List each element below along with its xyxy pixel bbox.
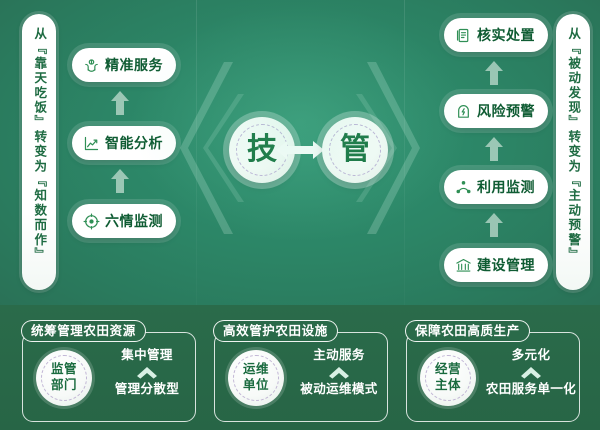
bottom-card-actor-circle: 监管部门	[36, 350, 92, 406]
target-crosshair-icon	[83, 213, 100, 230]
bottom-card-actor-label: 监管部门	[51, 362, 77, 393]
bottom-card-from-state: 管理分散型	[115, 383, 180, 397]
double-headed-arrow-icon	[275, 136, 325, 164]
chevron-up-icon	[136, 365, 158, 381]
chart-trend-icon	[83, 135, 100, 152]
bottom-card-farmland-resources: 统筹管理农田资源 监管部门 集中管理 管理分散型	[22, 332, 196, 422]
pill-label: 六情监测	[105, 214, 163, 228]
clipboard-check-icon	[455, 27, 472, 44]
bottom-card-from-state: 被动运维模式	[300, 383, 377, 397]
pill-label: 风险预警	[477, 104, 535, 118]
right-statement-text: 从『被动发现』转变为『主动预警』	[567, 27, 580, 262]
bank-building-icon	[455, 257, 472, 274]
pill-label: 利用监测	[477, 180, 535, 194]
bottom-card-title: 高效管护农田设施	[213, 320, 338, 342]
bottom-band: 统筹管理农田资源 监管部门 集中管理 管理分散型 高效管护农田设施 运维单位 主…	[0, 305, 600, 430]
up-arrow-right-3-icon	[484, 212, 504, 238]
shield-bolt-icon	[455, 103, 472, 120]
center-char-management: 管	[340, 135, 370, 165]
pill-risk-warning[interactable]: 风险预警	[444, 94, 548, 128]
up-arrow-right-2-icon	[484, 136, 504, 162]
bottom-card-transition: 多元化 农田服务单一化	[485, 349, 577, 397]
pill-precision-service[interactable]: 精准服务	[72, 48, 176, 82]
bottom-card-from-state: 农田服务单一化	[486, 383, 576, 397]
up-arrow-left-1-icon	[110, 90, 130, 116]
pill-utilization-monitoring[interactable]: 利用监测	[444, 170, 548, 204]
bottom-card-title: 保障农田高质生产	[405, 320, 530, 342]
up-arrow-left-2-icon	[110, 168, 130, 194]
bottom-card-title: 统筹管理农田资源	[21, 320, 146, 342]
bottom-card-quality-production: 保障农田高质生产 经营主体 多元化 农田服务单一化	[406, 332, 580, 422]
pill-label: 核实处置	[477, 28, 535, 42]
left-statement-panel: 从『靠天吃饭』转变为『知数而作』	[22, 14, 56, 290]
bottom-card-to-state: 多元化	[512, 349, 551, 363]
pill-six-condition-monitoring[interactable]: 六情监测	[72, 204, 176, 238]
bottom-card-transition: 集中管理 管理分散型	[101, 349, 193, 397]
right-statement-panel: 从『被动发现』转变为『主动预警』	[556, 14, 590, 290]
bottom-card-to-state: 集中管理	[121, 349, 173, 363]
bottom-card-farmland-facilities: 高效管护农田设施 运维单位 主动服务 被动运维模式	[214, 332, 388, 422]
pill-verification-disposal[interactable]: 核实处置	[444, 18, 548, 52]
bottom-card-actor-label: 运维单位	[243, 362, 269, 393]
hands-sprout-icon	[83, 57, 100, 74]
pill-label: 智能分析	[105, 136, 163, 150]
recycle-nodes-icon	[455, 179, 472, 196]
bottom-card-actor-label: 经营主体	[435, 362, 461, 393]
pill-intelligent-analysis[interactable]: 智能分析	[72, 126, 176, 160]
seam-line-right	[404, 0, 405, 305]
center-char-technology: 技	[247, 135, 277, 165]
chevron-up-icon	[520, 365, 542, 381]
pill-label: 建设管理	[477, 258, 535, 272]
bottom-card-actor-circle: 运维单位	[228, 350, 284, 406]
infographic-canvas: 从『靠天吃饭』转变为『知数而作』 从『被动发现』转变为『主动预警』 精准服务	[0, 0, 600, 430]
up-arrow-right-1-icon	[484, 60, 504, 86]
top-stage: 从『靠天吃饭』转变为『知数而作』 从『被动发现』转变为『主动预警』 精准服务	[0, 0, 600, 305]
bottom-card-transition: 主动服务 被动运维模式	[293, 349, 385, 397]
left-statement-text: 从『靠天吃饭』转变为『知数而作』	[33, 27, 46, 262]
pill-label: 精准服务	[105, 58, 163, 72]
center-circle-management: 管	[322, 117, 388, 183]
pill-construction-management[interactable]: 建设管理	[444, 248, 548, 282]
bottom-card-to-state: 主动服务	[313, 349, 365, 363]
bottom-card-actor-circle: 经营主体	[420, 350, 476, 406]
chevron-up-icon	[328, 365, 350, 381]
seam-line-left	[196, 0, 197, 305]
